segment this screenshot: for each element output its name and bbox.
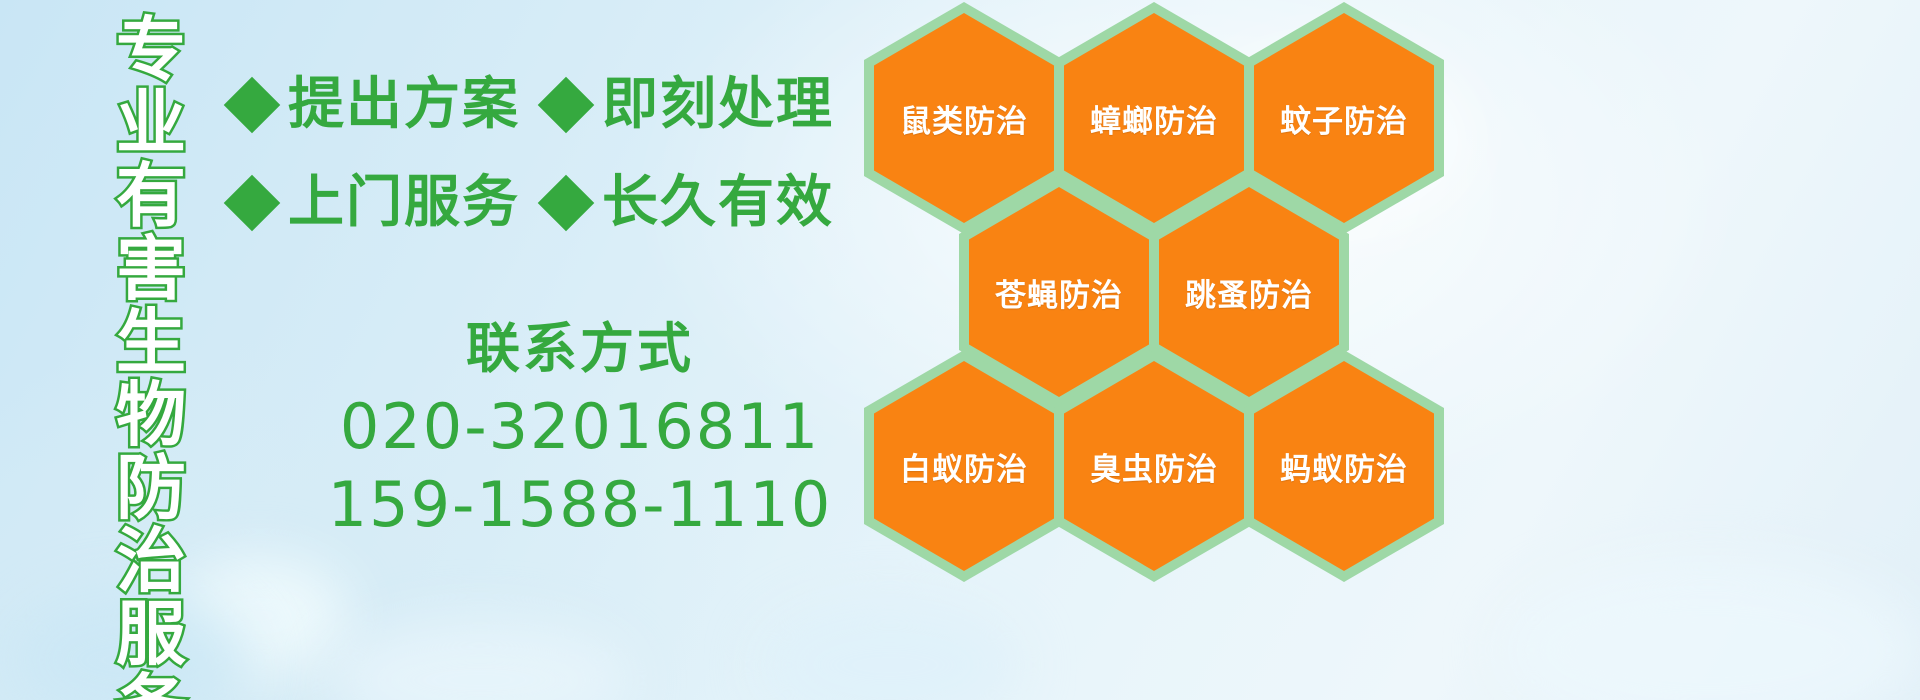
banner-root: 专 业 有 害 生 物 防 治 服 务 提出方案 即刻处理 上门服务 — [0, 0, 1920, 700]
hexagon-shape: 蚂蚁防治 — [1244, 350, 1444, 582]
background-blur-blob — [170, 556, 350, 676]
hexagon-shape: 白蚁防治 — [864, 350, 1064, 582]
feature-label: 长久有效 — [602, 172, 834, 234]
feature-item: 提出方案 — [232, 74, 520, 136]
feature-line: 提出方案 即刻处理 — [232, 74, 872, 136]
vertical-title-char: 有 — [116, 160, 186, 233]
vertical-title-char: 生 — [116, 306, 186, 379]
hexagon-shape: 臭虫防治 — [1054, 350, 1254, 582]
feature-label: 上门服务 — [288, 172, 520, 234]
diamond-bullet-icon — [224, 175, 281, 232]
diamond-bullet-icon — [538, 77, 595, 134]
contact-block: 联系方式 020-32016811 159-1588-1110 — [300, 316, 860, 544]
vertical-title-char: 务 — [116, 671, 186, 700]
contact-heading: 联系方式 — [300, 316, 860, 382]
vertical-title-char: 专 — [116, 14, 186, 87]
feature-item: 长久有效 — [546, 172, 834, 234]
background-blur-blob — [760, 600, 1020, 700]
diamond-bullet-icon — [538, 175, 595, 232]
hex-label: 臭虫防治 — [1090, 444, 1218, 489]
phone-number-mobile[interactable]: 159-1588-1110 — [300, 466, 860, 544]
hex-label: 苍蝇防治 — [995, 270, 1123, 315]
vertical-title-char: 物 — [116, 379, 186, 452]
hex-cell-bedbug[interactable]: 臭虫防治 — [1054, 350, 1254, 582]
hex-label: 蟑螂防治 — [1090, 96, 1218, 141]
hex-label: 白蚁防治 — [900, 444, 1028, 489]
feature-list: 提出方案 即刻处理 上门服务 长久有效 — [232, 74, 872, 270]
hex-label: 蚂蚁防治 — [1280, 444, 1408, 489]
hex-cell-ant[interactable]: 蚂蚁防治 — [1244, 350, 1444, 582]
hex-label: 鼠类防治 — [900, 96, 1028, 141]
vertical-title-char: 业 — [116, 87, 186, 160]
vertical-title-char: 害 — [116, 233, 186, 306]
feature-item: 即刻处理 — [546, 74, 834, 136]
feature-label: 即刻处理 — [602, 74, 834, 136]
diamond-bullet-icon — [224, 77, 281, 134]
feature-item: 上门服务 — [232, 172, 520, 234]
service-honeycomb: 鼠类防治 蟑螂防治 蚊子防治 苍蝇防治 跳蚤防治 — [858, 0, 1458, 556]
phone-number-landline[interactable]: 020-32016811 — [300, 388, 860, 466]
hex-label: 跳蚤防治 — [1185, 270, 1313, 315]
feature-label: 提出方案 — [288, 74, 520, 136]
vertical-title: 专 业 有 害 生 物 防 治 服 务 — [108, 14, 194, 686]
background-blur-blob — [330, 620, 630, 700]
vertical-title-char: 治 — [116, 525, 186, 598]
hex-cell-termite[interactable]: 白蚁防治 — [864, 350, 1064, 582]
background-blur-blob — [1500, 560, 1920, 700]
feature-line: 上门服务 长久有效 — [232, 172, 872, 234]
hex-label: 蚊子防治 — [1280, 96, 1408, 141]
vertical-title-char: 服 — [116, 598, 186, 671]
vertical-title-char: 防 — [116, 452, 186, 525]
